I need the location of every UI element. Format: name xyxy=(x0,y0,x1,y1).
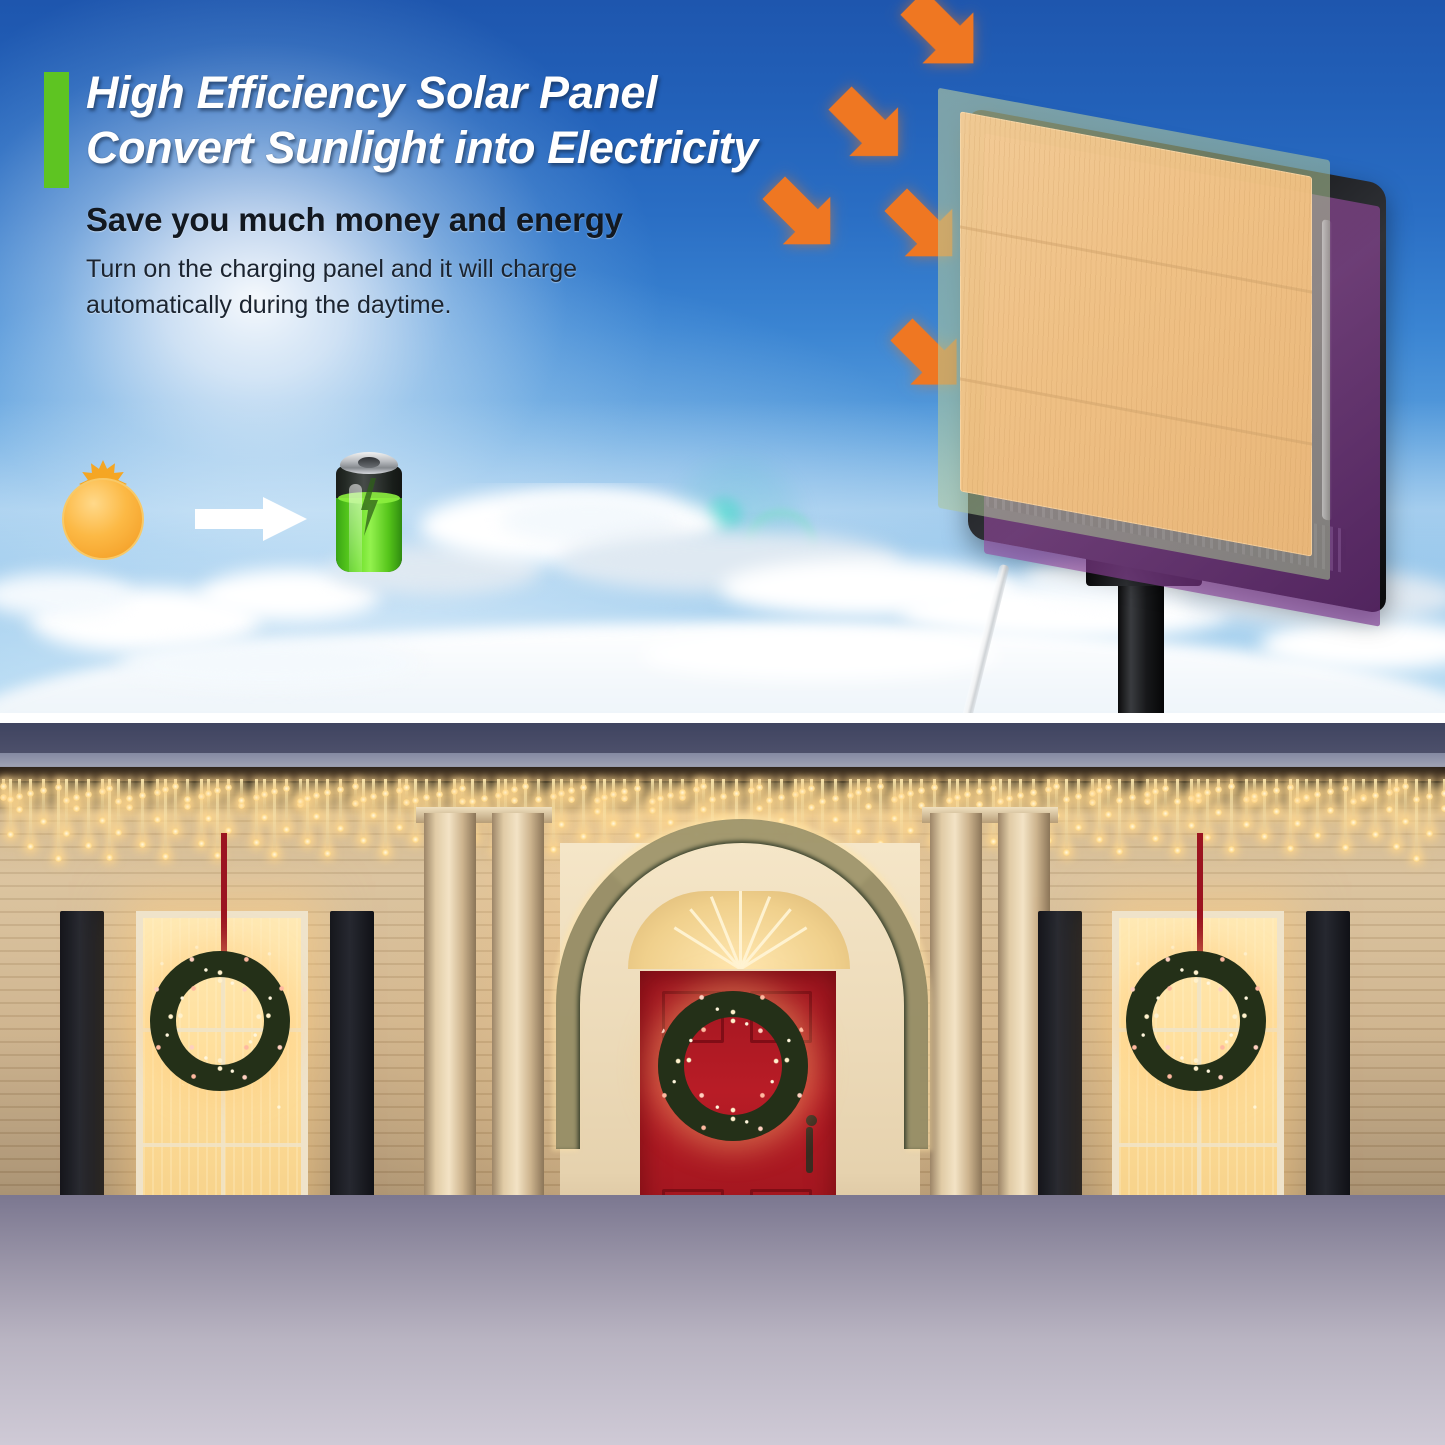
solar-panel-icon xyxy=(950,110,1445,713)
icicle-bulb xyxy=(253,794,260,801)
icicle-bulb xyxy=(1413,796,1420,803)
wreath-ribbon xyxy=(1197,833,1203,953)
icicle-light xyxy=(128,779,131,807)
icicle-bulb xyxy=(1089,790,1096,797)
icicle-bulb xyxy=(511,797,518,804)
icicle-bulb xyxy=(469,798,476,805)
panel-cell-lines xyxy=(960,111,1312,556)
icicle-bulb xyxy=(1261,790,1268,797)
sun-icon xyxy=(44,460,162,578)
icicle-bulb xyxy=(1116,848,1123,855)
icicle-bulb xyxy=(808,785,815,792)
icicle-bulb xyxy=(657,795,664,802)
icicle-bulb xyxy=(283,826,290,833)
icicle-bulb xyxy=(1350,798,1357,805)
icicle-bulb xyxy=(1116,797,1123,804)
icicle-bulb xyxy=(819,798,826,805)
icicle-bulb xyxy=(1045,786,1052,793)
icicle-bulb xyxy=(1129,794,1136,801)
icicle-bulb xyxy=(580,784,587,791)
body-copy: Turn on the charging panel and it will c… xyxy=(86,252,776,323)
icicle-bulb xyxy=(1402,783,1409,790)
icicle-bulb xyxy=(1215,786,1222,793)
icicle-bulb xyxy=(1294,820,1301,827)
icicle-bulb xyxy=(261,814,268,821)
icicle-light xyxy=(1428,779,1431,833)
icicle-bulb xyxy=(1228,783,1235,790)
icicle-bulb xyxy=(1314,791,1321,798)
icicle-bulb xyxy=(396,824,403,831)
icicle-bulb xyxy=(0,794,7,801)
icicle-bulb xyxy=(1195,792,1202,799)
panel-divider xyxy=(0,713,1445,723)
icicle-bulb xyxy=(1089,799,1096,806)
panel-edge-highlight xyxy=(1322,219,1332,521)
icicle-bulb xyxy=(7,796,14,803)
icicle-bulb xyxy=(550,793,557,800)
icicle-bulb xyxy=(1261,833,1268,840)
icicle-light xyxy=(1374,779,1377,834)
icicle-bulb xyxy=(324,850,331,857)
icicle-bulb xyxy=(720,793,727,800)
icicle-bulb xyxy=(40,818,47,825)
accent-bar xyxy=(44,72,69,188)
icicle-bulb xyxy=(700,783,707,790)
icicle-light xyxy=(810,779,813,807)
icicle-bulb xyxy=(522,783,529,790)
panel-mounting-post xyxy=(1118,570,1164,713)
icicle-light xyxy=(1316,779,1319,835)
right-arrow-icon xyxy=(195,497,307,541)
snow-ground xyxy=(0,1195,1445,1445)
icicle-bulb xyxy=(1152,835,1159,842)
icicle-light xyxy=(1217,779,1220,812)
icicle-light xyxy=(117,779,120,832)
icicle-bulb xyxy=(106,785,113,792)
icicle-bulb xyxy=(481,795,488,802)
icicle-bulb xyxy=(1287,845,1294,852)
icicle-bulb xyxy=(205,815,212,822)
panel-cable xyxy=(960,564,1010,713)
icicle-light xyxy=(1065,779,1068,852)
icicle-bulb xyxy=(649,798,656,805)
icicle-bulb xyxy=(634,832,641,839)
icicle-bulb xyxy=(313,813,320,820)
icicle-light xyxy=(909,779,912,830)
icicle-bulb xyxy=(436,791,443,798)
icicle-bulb xyxy=(799,788,806,795)
icicle-bulb xyxy=(594,808,601,815)
icicle-bulb xyxy=(16,793,23,800)
icicle-bulb xyxy=(1393,843,1400,850)
icicle-bulb xyxy=(667,792,674,799)
icicle-bulb xyxy=(1063,796,1070,803)
icicle-bulb xyxy=(1402,818,1409,825)
icicle-bulb xyxy=(7,831,14,838)
icicle-bulb xyxy=(558,821,565,828)
icicle-bulb xyxy=(1273,808,1280,815)
icicle-bulb xyxy=(126,795,133,802)
icicle-bulb xyxy=(792,791,799,798)
icicle-bulb xyxy=(172,783,179,790)
icicle-bulb xyxy=(1006,795,1013,802)
lightning-bolt-icon xyxy=(358,478,380,536)
icicle-bulb xyxy=(1426,793,1433,800)
icicle-bulb xyxy=(99,817,106,824)
icicle-bulb xyxy=(459,785,466,792)
icicle-bulb xyxy=(865,803,872,810)
icicle-bulb xyxy=(667,819,674,826)
icicle-light xyxy=(1190,779,1193,825)
icicle-bulb xyxy=(1314,832,1321,839)
icicle-bulb xyxy=(649,807,656,814)
icicle-bulb xyxy=(808,804,815,811)
icicle-bulb xyxy=(271,851,278,858)
icicle-bulb xyxy=(756,805,763,812)
icicle-bulb xyxy=(1030,789,1037,796)
icicle-bulb xyxy=(1030,800,1037,807)
icicle-bulb xyxy=(832,795,839,802)
icicle-bulb xyxy=(1426,830,1433,837)
icicle-bulb xyxy=(621,795,628,802)
icicle-light xyxy=(552,779,555,849)
icicle-bulb xyxy=(324,789,331,796)
icicle-bulb xyxy=(304,838,311,845)
icicle-bulb xyxy=(601,794,608,801)
icicle-bulb xyxy=(855,789,862,796)
icicle-light xyxy=(857,779,860,831)
icicle-bulb xyxy=(1243,796,1250,803)
icicle-bulb xyxy=(198,840,205,847)
icicle-light xyxy=(200,779,203,843)
icicle-bulb xyxy=(115,829,122,836)
icicle-bulb xyxy=(1372,792,1379,799)
icicle-bulb xyxy=(621,788,628,795)
icicle-bulb xyxy=(693,786,700,793)
icicle-bulb xyxy=(63,830,70,837)
icicle-bulb xyxy=(403,799,410,806)
icicle-light xyxy=(156,779,159,819)
icicle-bulb xyxy=(1075,824,1082,831)
icicle-light xyxy=(42,779,45,821)
icicle-bulb xyxy=(594,797,601,804)
icicle-light xyxy=(65,779,68,833)
night-house-photo-panel: The solar string lights will automatical… xyxy=(0,723,1445,1445)
icicle-bulb xyxy=(990,785,997,792)
icicle-bulb xyxy=(63,797,70,804)
icicle-bulb xyxy=(709,796,716,803)
icicle-light xyxy=(612,779,615,823)
icicle-bulb xyxy=(568,796,575,803)
icicle-light xyxy=(722,779,725,821)
icicle-bulb xyxy=(990,838,997,845)
icicle-bulb xyxy=(877,783,884,790)
icicle-light xyxy=(207,779,210,818)
icicle-bulb xyxy=(382,790,389,797)
product-feature-image: High Efficiency Solar Panel Convert Sunl… xyxy=(0,0,1445,1445)
icicle-light xyxy=(255,779,258,842)
icicle-light xyxy=(1206,779,1209,837)
icicle-bulb xyxy=(360,796,367,803)
icicle-bulb xyxy=(1204,834,1211,841)
icicle-bulb xyxy=(1342,844,1349,851)
icicle-bulb xyxy=(1273,787,1280,794)
icicle-bulb xyxy=(352,800,359,807)
icicle-bulb xyxy=(1342,785,1349,792)
icicle-bulb xyxy=(423,794,430,801)
icicle-bulb xyxy=(459,798,466,805)
icicle-bulb xyxy=(1063,849,1070,856)
icicle-bulb xyxy=(1144,798,1151,805)
icicle-bulb xyxy=(1251,793,1258,800)
icicle-bulb xyxy=(1144,791,1151,798)
icicle-bulb xyxy=(954,794,961,801)
solar-panel-feature-panel: High Efficiency Solar Panel Convert Sunl… xyxy=(0,0,1445,713)
wreath-ribbon xyxy=(221,833,227,953)
icicle-bulb xyxy=(1441,805,1445,812)
icicle-bulb xyxy=(511,786,518,793)
icicle-bulb xyxy=(370,793,377,800)
icicle-bulb xyxy=(1386,789,1393,796)
icicle-bulb xyxy=(997,798,1004,805)
icicle-bulb xyxy=(162,853,169,860)
icicle-bulb xyxy=(756,784,763,791)
icicle-bulb xyxy=(847,792,854,799)
window-wreath xyxy=(150,951,290,1091)
icicle-bulb xyxy=(1075,793,1082,800)
icicle-bulb xyxy=(214,787,221,794)
icicle-bulb xyxy=(55,784,62,791)
icicle-bulb xyxy=(396,787,403,794)
sun-disc xyxy=(62,478,144,560)
icicle-bulb xyxy=(907,790,914,797)
icicle-bulb xyxy=(748,787,755,794)
icicle-bulb xyxy=(634,785,641,792)
icicle-light xyxy=(306,779,309,841)
icicle-bulb xyxy=(1243,821,1250,828)
window-wreath xyxy=(1126,951,1266,1091)
icicle-bulb xyxy=(73,805,80,812)
icicle-bulb xyxy=(931,784,938,791)
icicle-bulb xyxy=(403,784,410,791)
icicle-bulb xyxy=(558,790,565,797)
icicle-bulb xyxy=(283,785,290,792)
icicle-bulb xyxy=(55,855,62,862)
icicle-bulb xyxy=(964,791,971,798)
icicle-bulb xyxy=(253,839,260,846)
icicle-bulb xyxy=(1360,795,1367,802)
icicle-light xyxy=(1118,779,1121,851)
icicle-bulb xyxy=(568,787,575,794)
icicle-bulb xyxy=(382,849,389,856)
icicle-bulb xyxy=(27,790,34,797)
icicle-bulb xyxy=(172,828,179,835)
icicle-bulb xyxy=(214,852,221,859)
icicle-bulb xyxy=(1393,786,1400,793)
icicle-bulb xyxy=(412,797,419,804)
icicle-light xyxy=(1415,779,1418,858)
icicle-bulb xyxy=(184,803,191,810)
icicle-bulb xyxy=(1162,810,1169,817)
icicle-bulb xyxy=(1215,809,1222,816)
icicle-bulb xyxy=(766,797,773,804)
icicle-bulb xyxy=(139,841,146,848)
icicle-bulb xyxy=(1441,790,1445,797)
icicle-light xyxy=(1275,779,1278,811)
icicle-bulb xyxy=(261,791,268,798)
icicle-bulb xyxy=(73,794,80,801)
icicle-bulb xyxy=(1204,789,1211,796)
icicle-bulb xyxy=(700,806,707,813)
icicle-bulb xyxy=(1174,798,1181,805)
icicle-light xyxy=(141,779,144,844)
icicle-bulb xyxy=(1228,846,1235,853)
icicle-bulb xyxy=(451,788,458,795)
icicle-bulb xyxy=(297,798,304,805)
icicle-bulb xyxy=(495,792,502,799)
icicle-light xyxy=(1176,779,1179,850)
icicle-bulb xyxy=(1386,806,1393,813)
icicle-light xyxy=(651,779,654,810)
icicle-bulb xyxy=(27,843,34,850)
icicle-bulb xyxy=(1105,811,1112,818)
icicle-bulb xyxy=(679,789,686,796)
icicle-bulb xyxy=(865,786,872,793)
icicle-bulb xyxy=(1174,847,1181,854)
icicle-light xyxy=(1263,779,1266,836)
icicle-bulb xyxy=(1188,822,1195,829)
icicle-light xyxy=(362,779,365,840)
icicle-bulb xyxy=(1327,788,1334,795)
icicle-bulb xyxy=(370,812,377,819)
icicle-light xyxy=(9,779,12,834)
icicle-bulb xyxy=(271,788,278,795)
icicle-bulb xyxy=(225,784,232,791)
icicle-bulb xyxy=(238,797,245,804)
icicle-bulb xyxy=(360,837,367,844)
icicle-bulb xyxy=(891,796,898,803)
icicle-bulb xyxy=(855,828,862,835)
icicle-bulb xyxy=(1105,784,1112,791)
cloud-puff xyxy=(120,639,420,687)
icicle-bulb xyxy=(1303,794,1310,801)
icicle-bulb xyxy=(154,789,161,796)
icicle-light xyxy=(603,779,606,848)
icicle-bulb xyxy=(1372,831,1379,838)
icicle-bulb xyxy=(502,789,509,796)
icicle-bulb xyxy=(337,786,344,793)
icicle-light xyxy=(263,779,266,817)
cloud-puff xyxy=(640,629,1000,679)
icicle-bulb xyxy=(16,806,23,813)
icicle-bulb xyxy=(778,794,785,801)
battery-charging-icon xyxy=(330,452,408,580)
icicle-bulb xyxy=(891,815,898,822)
icicle-bulb xyxy=(1017,792,1024,799)
icicle-bulb xyxy=(1294,797,1301,804)
icicle-bulb xyxy=(1053,783,1060,790)
icicle-bulb xyxy=(733,790,740,797)
icicle-bulb xyxy=(412,836,419,843)
icicle-light xyxy=(560,779,563,824)
icicle-bulb xyxy=(535,796,542,803)
icicle-bulb xyxy=(304,795,311,802)
icicle-bulb xyxy=(1096,787,1103,794)
icicle-bulb xyxy=(162,786,169,793)
icicle-bulb xyxy=(1129,823,1136,830)
icicle-bulb xyxy=(85,791,92,798)
icicle-bulb xyxy=(126,804,133,811)
icicle-bulb xyxy=(610,791,617,798)
icicle-bulb xyxy=(184,796,191,803)
icicle-light xyxy=(87,779,90,845)
icicle-bulb xyxy=(580,833,587,840)
icicle-bulb xyxy=(1413,855,1420,862)
icicle-bulb xyxy=(205,790,212,797)
icicle-bulb xyxy=(115,798,122,805)
icicle-bulb xyxy=(1152,788,1159,795)
icicle-bulb xyxy=(550,846,557,853)
icicle-bulb xyxy=(99,788,106,795)
icicle-light xyxy=(596,779,599,811)
icicle-light xyxy=(101,779,104,820)
icicle-bulb xyxy=(1162,785,1169,792)
icicle-bulb xyxy=(313,792,320,799)
icicle-light xyxy=(669,779,672,822)
icicle-bulb xyxy=(106,854,113,861)
icicle-bulb xyxy=(946,797,953,804)
icicle-bulb xyxy=(352,783,359,790)
icicle-bulb xyxy=(40,787,47,794)
icicle-bulb xyxy=(832,816,839,823)
icicle-bulb xyxy=(154,816,161,823)
icicle-bulb xyxy=(139,792,146,799)
icicle-bulb xyxy=(337,825,344,832)
icicle-bulb xyxy=(907,827,914,834)
icicle-bulb xyxy=(918,787,925,794)
icicle-bulb xyxy=(976,788,983,795)
icicle-bulb xyxy=(1188,795,1195,802)
icicle-bulb xyxy=(610,820,617,827)
icicle-bulb xyxy=(1350,819,1357,826)
icicle-light xyxy=(1077,779,1080,827)
icicle-bulb xyxy=(0,783,7,790)
icicle-light xyxy=(1131,779,1134,826)
icicle-bulb xyxy=(85,842,92,849)
icicle-bulb xyxy=(1096,836,1103,843)
icicle-bulb xyxy=(1327,807,1334,814)
icicle-bulb xyxy=(198,793,205,800)
icicle-bulb xyxy=(898,793,905,800)
icicle-bulb xyxy=(1287,784,1294,791)
